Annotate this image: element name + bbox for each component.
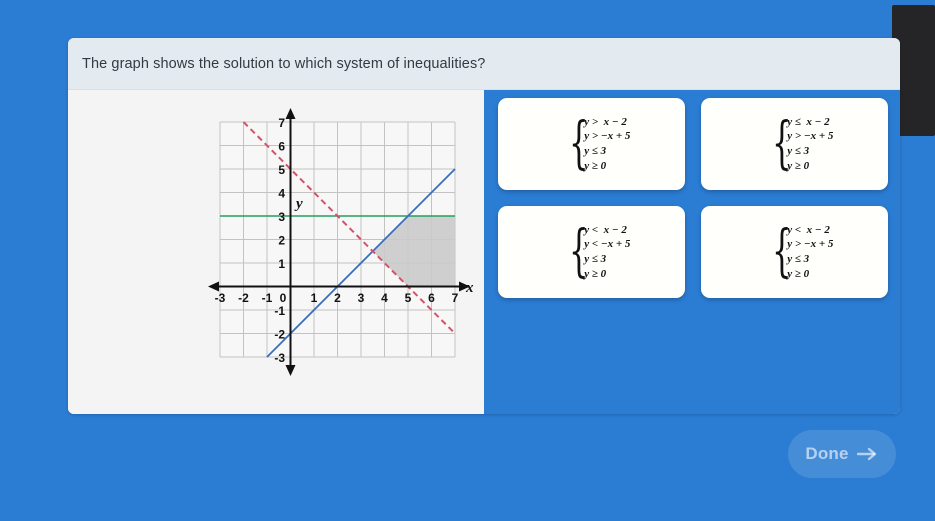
graph-panel: y x -3 -2 -1 1 2 3 4 5 6 7 0 (68, 90, 484, 414)
done-button-label: Done (805, 444, 848, 464)
y-axis-label: y (294, 196, 303, 212)
system-b: { y ≤ x − 2 y > −x + 5 y ≤ 3 y ≥ 0 (756, 115, 834, 173)
svg-text:3: 3 (278, 210, 285, 224)
svg-text:-2: -2 (238, 291, 249, 305)
inequality: y ≤ x − 2 (787, 115, 833, 130)
inequalities-a: y > x − 2 y > −x + 5 y ≤ 3 y ≥ 0 (584, 115, 630, 173)
inequality: y ≥ 0 (584, 267, 630, 282)
svg-text:4: 4 (278, 187, 285, 201)
svg-text:2: 2 (334, 291, 341, 305)
left-brace-c: { (569, 230, 589, 275)
inequalities-c: y < x − 2 y < −x + 5 y ≤ 3 y ≥ 0 (584, 223, 630, 281)
answer-option-b[interactable]: { y ≤ x − 2 y > −x + 5 y ≤ 3 y ≥ 0 (701, 98, 888, 190)
svg-text:3: 3 (358, 291, 365, 305)
inequality: y > −x + 5 (787, 237, 833, 252)
inequality: y ≤ 3 (787, 144, 833, 159)
svg-text:-1: -1 (262, 291, 273, 305)
answer-option-d[interactable]: { y < x − 2 y > −x + 5 y ≤ 3 y ≥ 0 (701, 206, 888, 298)
inequality: y > x − 2 (584, 115, 630, 130)
svg-text:2: 2 (278, 234, 285, 248)
inequality: y < x − 2 (787, 223, 833, 238)
svg-text:6: 6 (278, 140, 285, 154)
answer-option-a[interactable]: { y > x − 2 y > −x + 5 y ≤ 3 y ≥ 0 (498, 98, 685, 190)
svg-text:5: 5 (278, 163, 285, 177)
svg-text:1: 1 (311, 291, 318, 305)
inequality: y ≤ 3 (584, 144, 630, 159)
svg-text:-2: -2 (274, 328, 285, 342)
inequality: y ≥ 0 (787, 159, 833, 174)
inequality: y < x − 2 (584, 223, 630, 238)
inequality: y > −x + 5 (787, 129, 833, 144)
inequality: y < −x + 5 (584, 237, 630, 252)
quiz-card: The graph shows the solution to which sy… (68, 38, 900, 414)
inequality-graph: y x -3 -2 -1 1 2 3 4 5 6 7 0 (68, 90, 484, 414)
arrow-right-icon (857, 447, 879, 461)
system-a: { y > x − 2 y > −x + 5 y ≤ 3 y ≥ 0 (553, 115, 631, 173)
answers-panel: { y > x − 2 y > −x + 5 y ≤ 3 y ≥ 0 { (484, 90, 900, 414)
inequality: y > −x + 5 (584, 129, 630, 144)
svg-text:7: 7 (452, 291, 459, 305)
left-brace-d: { (772, 230, 792, 275)
inequality: y ≤ 3 (584, 252, 630, 267)
system-d: { y < x − 2 y > −x + 5 y ≤ 3 y ≥ 0 (756, 223, 834, 281)
question-title: The graph shows the solution to which sy… (82, 56, 485, 72)
quiz-body: y x -3 -2 -1 1 2 3 4 5 6 7 0 (68, 90, 900, 414)
svg-text:7: 7 (278, 116, 285, 130)
svg-text:6: 6 (428, 291, 435, 305)
svg-text:-3: -3 (274, 351, 285, 365)
origin-label: 0 (280, 291, 287, 305)
inequalities-b: y ≤ x − 2 y > −x + 5 y ≤ 3 y ≥ 0 (787, 115, 833, 173)
answer-option-c[interactable]: { y < x − 2 y < −x + 5 y ≤ 3 y ≥ 0 (498, 206, 685, 298)
inequality: y ≥ 0 (584, 159, 630, 174)
inequality: y ≥ 0 (787, 267, 833, 282)
svg-text:5: 5 (405, 291, 412, 305)
done-button[interactable]: Done (788, 430, 896, 478)
left-brace-a: { (569, 122, 589, 167)
svg-text:1: 1 (278, 257, 285, 271)
inequality: y ≤ 3 (787, 252, 833, 267)
x-axis-label: x (465, 280, 474, 296)
quiz-header: The graph shows the solution to which sy… (68, 38, 900, 90)
left-brace-b: { (772, 122, 792, 167)
answer-options-grid: { y > x − 2 y > −x + 5 y ≤ 3 y ≥ 0 { (498, 98, 888, 300)
svg-text:-3: -3 (215, 291, 226, 305)
system-c: { y < x − 2 y < −x + 5 y ≤ 3 y ≥ 0 (553, 223, 631, 281)
inequalities-d: y < x − 2 y > −x + 5 y ≤ 3 y ≥ 0 (787, 223, 833, 281)
svg-text:-1: -1 (274, 304, 285, 318)
svg-text:4: 4 (381, 291, 388, 305)
